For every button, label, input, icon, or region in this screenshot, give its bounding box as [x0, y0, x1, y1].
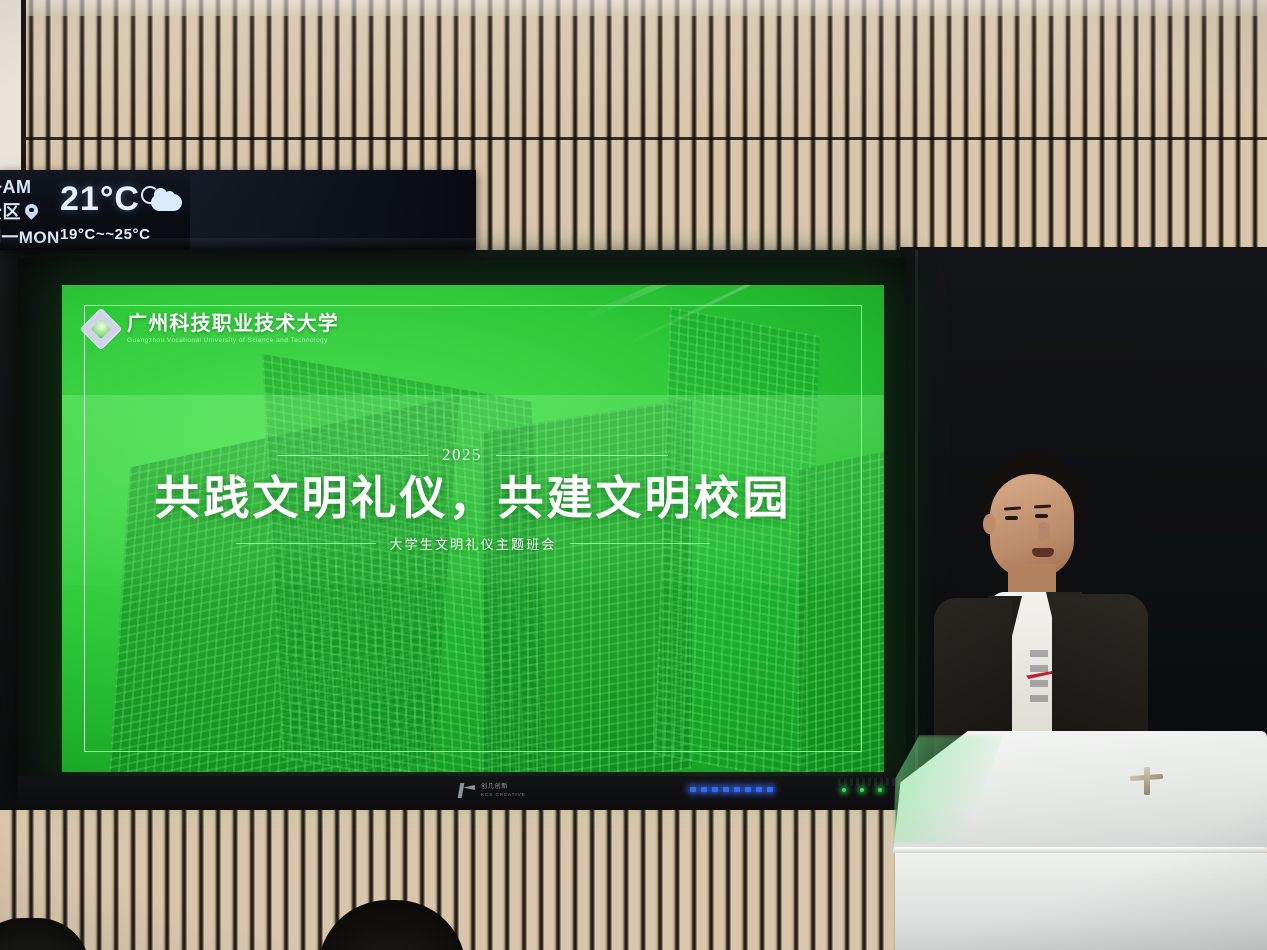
display-wall-edge — [915, 250, 918, 770]
display-bottom-bezel: 创几创新 KCS CREATIVE — [18, 776, 906, 810]
weather-temperature: 21°C — [60, 182, 151, 216]
map-pin-icon — [25, 204, 38, 221]
presenter-eye — [1005, 516, 1018, 520]
university-diamond-logo-icon — [84, 312, 118, 346]
weather-panel-blank — [190, 170, 476, 250]
weather-range: 19°C~~25°C — [60, 226, 151, 243]
partly-cloudy-icon — [141, 184, 183, 214]
classroom-scene: 广州科技职业技术大学 Guangzhou Vocational Universi… — [0, 0, 1267, 950]
slide-title: 共践文明礼仪，共建文明校园 — [62, 473, 884, 525]
university-logo: 广州科技职业技术大学 Guangzhou Vocational Universi… — [84, 312, 339, 346]
brand-name-zh: 创几创新 — [481, 783, 526, 791]
decorative-line — [236, 543, 376, 544]
decorative-line — [278, 455, 428, 456]
k-mark-icon — [458, 782, 475, 799]
metal-cross-emblem-icon — [1130, 767, 1163, 795]
presenter-nose — [1038, 522, 1050, 542]
status-led-row — [842, 788, 882, 792]
year-row: 2025 — [62, 445, 884, 465]
university-name-en: Guangzhou Vocational University of Scien… — [127, 338, 339, 345]
presentation-screen[interactable]: 广州科技职业技术大学 Guangzhou Vocational Universi… — [62, 285, 884, 772]
wall-seam — [0, 137, 1267, 140]
presenter-head — [990, 474, 1074, 578]
weather-district: 云区 — [0, 203, 21, 221]
weather-temp-column: 21°C 19°C~~25°C — [60, 182, 151, 243]
slide-center-block: 2025 共践文明礼仪，共建文明校园 大学生文明礼仪主题班会 — [62, 445, 884, 553]
decorative-line — [570, 543, 710, 544]
lectern-body — [895, 853, 1267, 950]
slide-subtitle: 大学生文明礼仪主题班会 — [389, 534, 556, 553]
brand-name-en: KCS CREATIVE — [481, 792, 526, 798]
weather-display-panel: 午AM 云区 期一MON 21°C 19°C~~25°C — [0, 170, 476, 250]
slide-year: 2025 — [442, 445, 482, 465]
wall-pillar — [0, 0, 26, 186]
subtitle-row: 大学生文明礼仪主题班会 — [62, 534, 884, 553]
led-indicator-row — [690, 787, 773, 792]
decorative-line — [496, 455, 668, 456]
display-brand: 创几创新 KCS CREATIVE — [458, 782, 526, 799]
ceiling-strip — [0, 0, 1267, 16]
university-name-zh: 广州科技职业技术大学 — [127, 314, 339, 334]
presenter-eye — [1035, 514, 1048, 518]
presenter-ear — [983, 514, 996, 534]
presenter-mouth — [1032, 548, 1054, 557]
lectern — [893, 731, 1267, 950]
